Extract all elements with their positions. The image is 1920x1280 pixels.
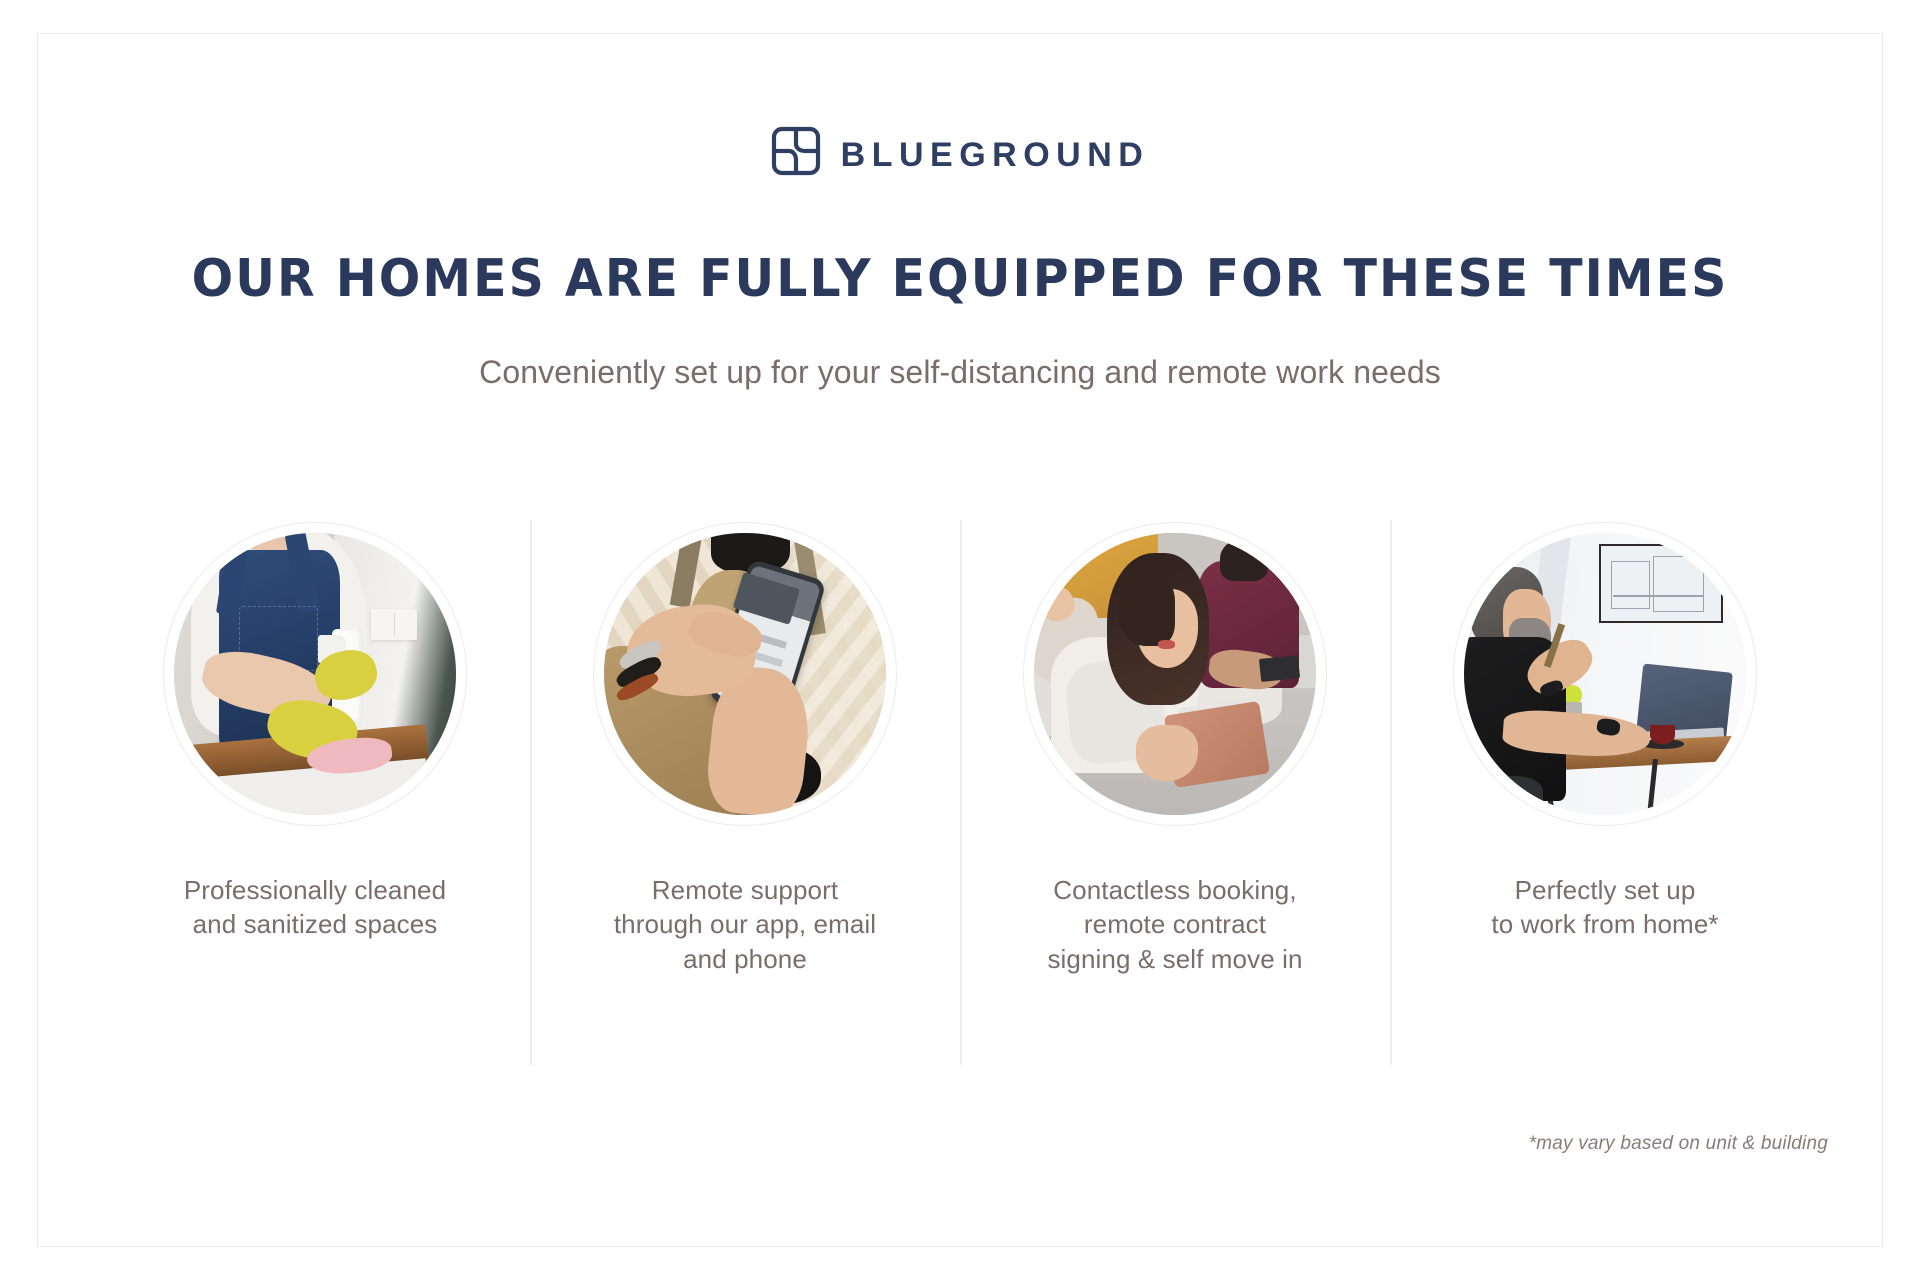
photo-work-from-home xyxy=(1464,533,1746,815)
feature-image-ring xyxy=(593,522,897,826)
photo-contactless-booking xyxy=(1034,533,1316,815)
page-subtitle: Conveniently set up for your self-distan… xyxy=(0,354,1920,391)
promo-page: BLUEGROUND OUR HOMES ARE FULLY EQUIPPED … xyxy=(0,0,1920,1280)
feature-caption: Professionally cleaned and sanitized spa… xyxy=(184,873,446,942)
photo-remote-support xyxy=(604,533,886,815)
feature-column-work-from-home: Perfectly set up to work from home* xyxy=(1390,520,1820,1065)
brand-lockup: BLUEGROUND xyxy=(0,126,1920,181)
feature-image-ring xyxy=(1453,522,1757,826)
feature-column-cleaning: Professionally cleaned and sanitized spa… xyxy=(100,520,530,1065)
page-title: OUR HOMES ARE FULLY EQUIPPED FOR THESE T… xyxy=(58,252,1863,307)
footnote: *may vary based on unit & building xyxy=(1529,1133,1828,1155)
feature-image-ring xyxy=(1023,522,1327,826)
photo-professionally-cleaned xyxy=(174,533,456,815)
brand-wordmark: BLUEGROUND xyxy=(841,136,1150,172)
feature-caption: Remote support through our app, email an… xyxy=(614,873,876,976)
feature-image-ring xyxy=(163,522,467,826)
feature-column-remote-support: Remote support through our app, email an… xyxy=(530,520,960,1065)
feature-column-contactless-booking: Contactless booking, remote contract sig… xyxy=(960,520,1390,1065)
feature-grid: Professionally cleaned and sanitized spa… xyxy=(100,520,1820,1065)
feature-caption: Perfectly set up to work from home* xyxy=(1491,873,1718,942)
feature-caption: Contactless booking, remote contract sig… xyxy=(1047,873,1302,976)
blueground-square-mark-icon xyxy=(771,126,821,181)
